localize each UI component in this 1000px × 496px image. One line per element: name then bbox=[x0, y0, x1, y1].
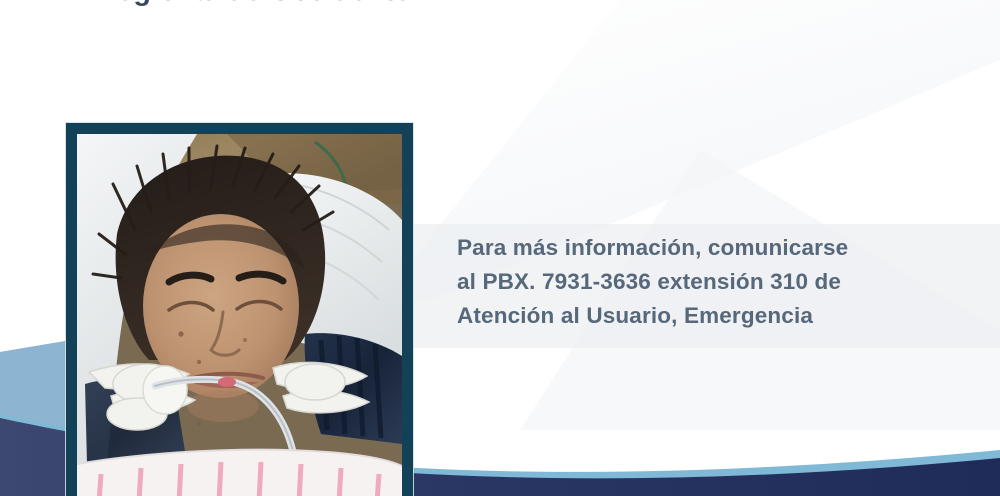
patient-photo-illustration bbox=[77, 134, 402, 496]
page-title: Regional de Occidente. bbox=[96, 0, 736, 10]
contact-info-line-2: al PBX. 7931-3636 extensión 310 de bbox=[457, 265, 957, 299]
photo-frame bbox=[66, 123, 413, 496]
light-blue-block-fill bbox=[0, 341, 66, 496]
contact-info-line-1: Para más información, comunicarse bbox=[457, 231, 957, 265]
contact-info-text: Para más información, comunicarse al PBX… bbox=[457, 231, 957, 334]
contact-info-line-3: Atención al Usuario, Emergencia bbox=[457, 299, 957, 333]
patient-photo bbox=[77, 134, 402, 496]
slide-canvas: Regional de Occidente. bbox=[0, 0, 1000, 496]
